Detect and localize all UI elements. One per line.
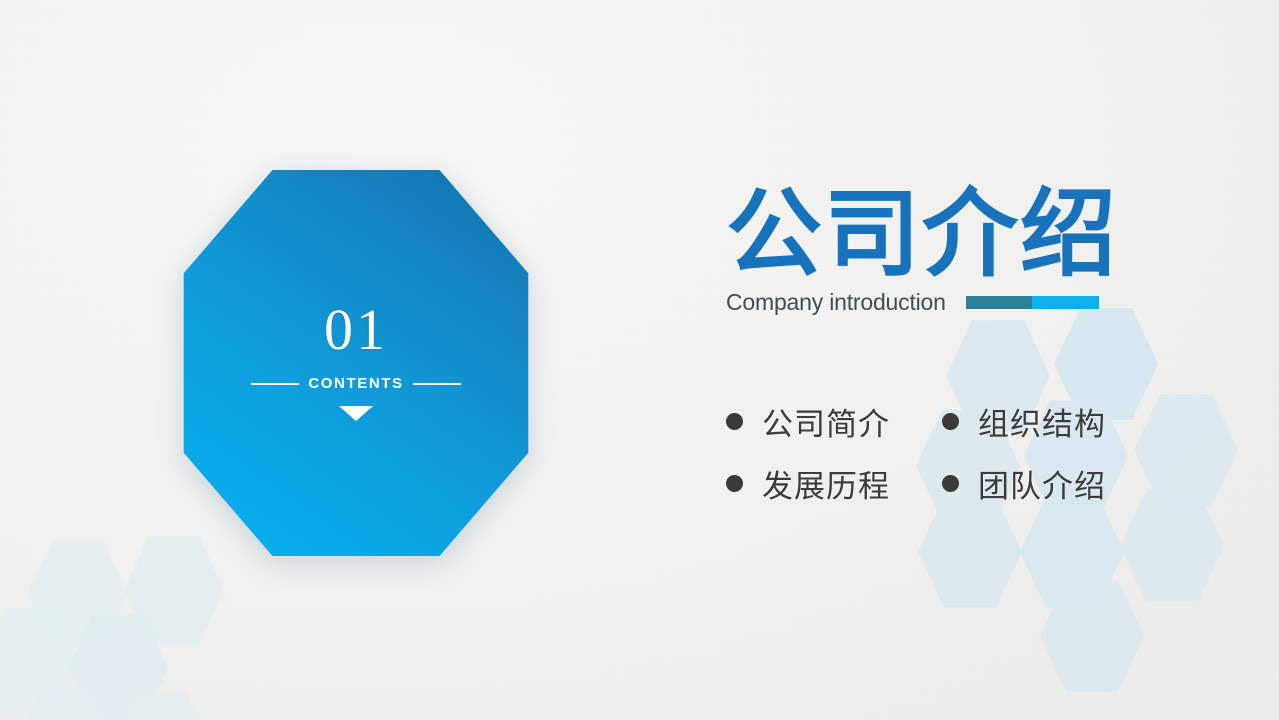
decorative-hexagon (0, 606, 80, 718)
list-item[interactable]: 团队介绍 (942, 461, 1158, 506)
decorative-hexagon (16, 684, 116, 720)
page-title: 公司介绍 (726, 186, 1246, 284)
hexagon-content: 01 CONTENTS (182, 168, 530, 558)
accent-bar-left-segment (966, 296, 1032, 309)
list-item-label: 团队介绍 (978, 461, 1106, 506)
decorative-hexagon (110, 688, 210, 720)
title-block: 公司介绍 Company introduction (726, 186, 1246, 316)
contents-label-row: CONTENTS (251, 375, 460, 392)
accent-bar (966, 296, 1099, 309)
bullet-dot-icon (942, 413, 959, 430)
list-item[interactable]: 发展历程 (726, 461, 942, 506)
triangle-down-icon (339, 406, 373, 421)
contents-label: CONTENTS (308, 375, 403, 392)
list-item[interactable]: 公司简介 (726, 399, 942, 444)
section-number: 01 (324, 301, 388, 359)
list-item[interactable]: 组织结构 (942, 399, 1158, 444)
decorative-hexagon (1040, 578, 1144, 694)
contents-list: 公司简介 组织结构 发展历程 团队介绍 (726, 390, 1166, 514)
accent-bar-right-segment (1032, 296, 1099, 309)
decorative-hexagon (68, 612, 168, 720)
bullet-dot-icon (726, 413, 743, 430)
section-hexagon[interactable]: 01 CONTENTS (182, 168, 530, 558)
page-subtitle: Company introduction (726, 289, 946, 316)
rule-left (251, 383, 299, 385)
list-item-label: 发展历程 (762, 461, 890, 506)
list-item-label: 公司简介 (762, 399, 890, 444)
bullet-dot-icon (726, 475, 743, 492)
rule-right (413, 383, 461, 385)
slide-canvas: 01 CONTENTS 公司介绍 Company introduction 公司… (0, 0, 1279, 720)
list-item-label: 组织结构 (978, 399, 1106, 444)
subtitle-row: Company introduction (726, 290, 1246, 316)
decorative-hexagon (28, 538, 128, 650)
bullet-dot-icon (942, 475, 959, 492)
